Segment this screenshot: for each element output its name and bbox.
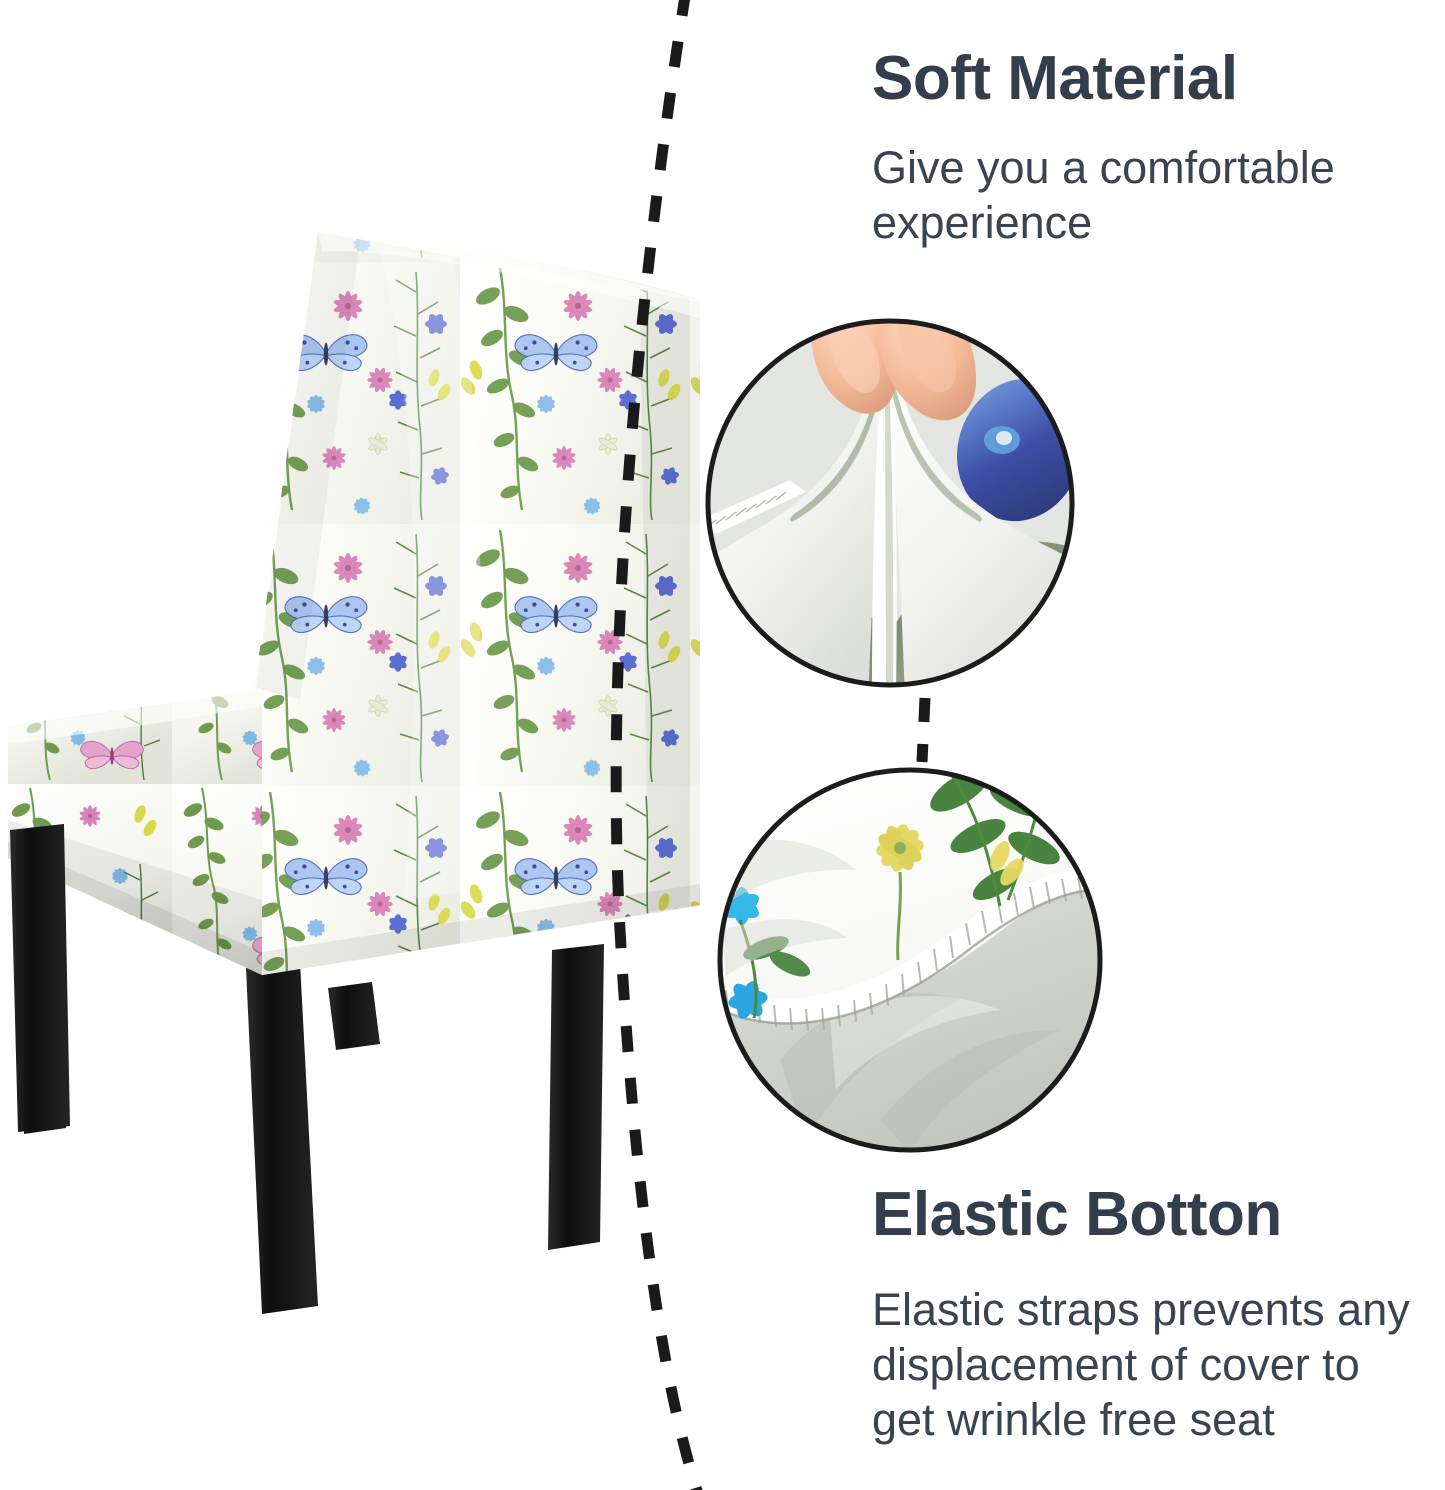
chair-front-left-leg	[10, 824, 70, 1132]
feature-title-soft-material: Soft Material	[872, 46, 1417, 113]
elastic-hem-closeup	[716, 760, 1110, 1160]
circle-link-path	[922, 698, 925, 762]
feature-description-elastic-botton: Elastic straps prevents any displacement…	[872, 1283, 1434, 1448]
feature-title-elastic-botton: Elastic Botton	[872, 1182, 1434, 1249]
infographic-canvas: Soft Material Give you a comfortable exp…	[0, 0, 1445, 1490]
feature-block-elastic-botton: Elastic Botton Elastic straps prevents a…	[872, 1182, 1434, 1448]
chair-back-cover	[230, 210, 730, 1000]
fabric-stretch-closeup	[700, 292, 1101, 700]
feature-block-soft-material: Soft Material Give you a comfortable exp…	[872, 46, 1417, 251]
feature-description-soft-material: Give you a comfortable experience	[872, 141, 1417, 251]
